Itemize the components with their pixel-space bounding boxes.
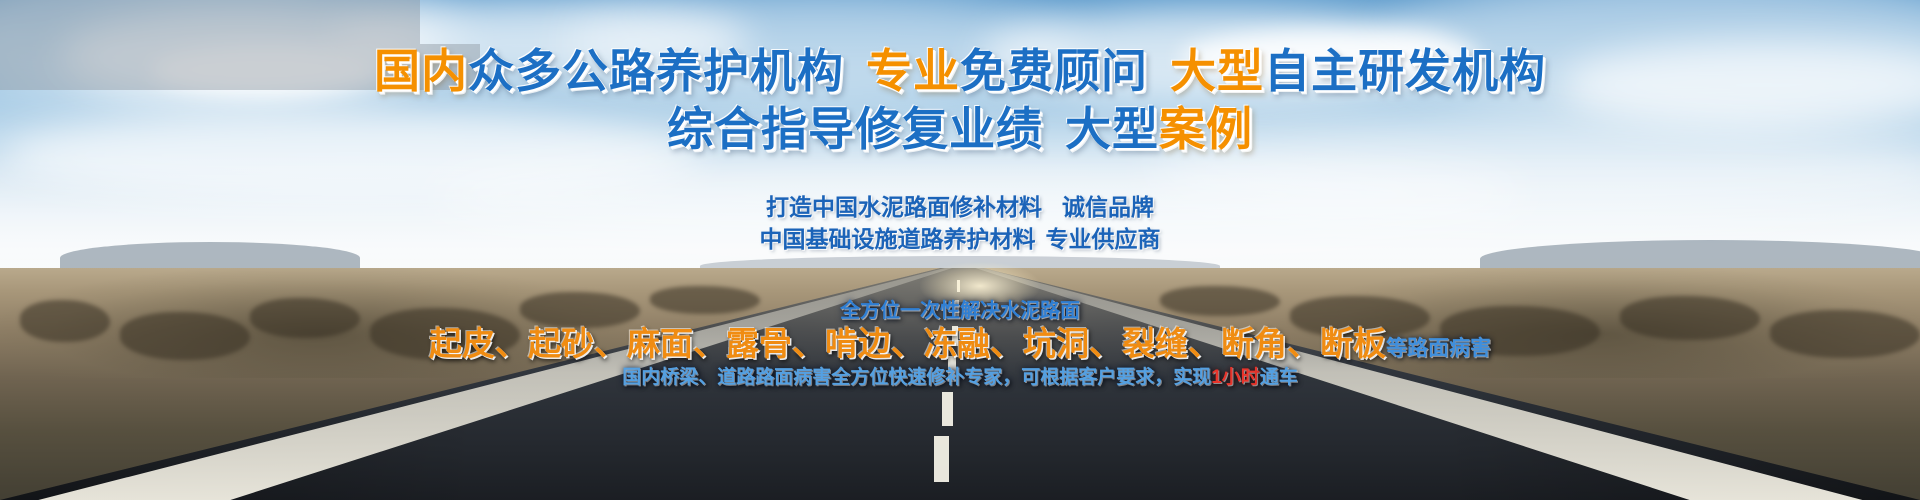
headline-seg-zizhu: 自主研发机构 xyxy=(1264,45,1546,97)
subhead-line-1: 打造中国水泥路面修补材料诚信品牌 xyxy=(0,192,1920,222)
distant-hill xyxy=(0,0,420,44)
subhead-seg-chengxin: 诚信品牌 xyxy=(1062,194,1154,220)
headline-line-2: 综合指导修复业绩大型案例 xyxy=(0,106,1920,152)
subhead-seg-gongyingshang: 专业供应商 xyxy=(1046,226,1161,252)
bottom-seg-defects: 起皮、起砂、麻面、露骨、啃边、冻融、坑洞、裂缝、断角、断板 xyxy=(429,325,1386,362)
headline-seg-zonghe: 综合指导修复业绩 xyxy=(667,103,1043,155)
headline-line-1: 国内众多公路养护机构专业免费顾问大型自主研发机构 xyxy=(0,48,1920,94)
bottom-seg-tongche: 通车 xyxy=(1260,367,1298,388)
headline-seg-zhongduo: 众多公路养护机构 xyxy=(468,45,844,97)
headline-seg-anli: 案例 xyxy=(1159,103,1253,155)
subhead-line-2: 中国基础设施道路养护材料专业供应商 xyxy=(0,224,1920,254)
subhead-seg-dazao: 打造中国水泥路面修补材料 xyxy=(766,194,1042,220)
promo-banner: 国内众多公路养护机构专业免费顾问大型自主研发机构 综合指导修复业绩大型案例 打造… xyxy=(0,0,1920,500)
subhead-seg-jichu: 中国基础设施道路养护材料 xyxy=(760,226,1036,252)
bottom-seg-expert: 国内桥梁、道路路面病害全方位快速修补专家，可根据客户要求，实现 xyxy=(622,367,1211,388)
headline-seg-daxing2: 大型 xyxy=(1065,103,1159,155)
lane-dash xyxy=(934,436,949,482)
bottom-line-2: 起皮、起砂、麻面、露骨、啃边、冻融、坑洞、裂缝、断角、断板等路面病害 xyxy=(0,317,1920,365)
bottom-line-3: 国内桥梁、道路路面病害全方位快速修补专家，可根据客户要求，实现1小时通车 xyxy=(0,362,1920,389)
bottom-seg-dengbinghai: 等路面病害 xyxy=(1386,337,1491,360)
headline-seg-zhuanye: 专业 xyxy=(866,45,960,97)
headline-seg-daxing: 大型 xyxy=(1170,45,1264,97)
bottom-seg-onehour: 1小时 xyxy=(1211,367,1260,388)
headline-seg-mianfei: 免费顾问 xyxy=(960,45,1148,97)
lane-dash xyxy=(942,392,953,426)
headline-seg-guonei: 国内 xyxy=(374,45,468,97)
